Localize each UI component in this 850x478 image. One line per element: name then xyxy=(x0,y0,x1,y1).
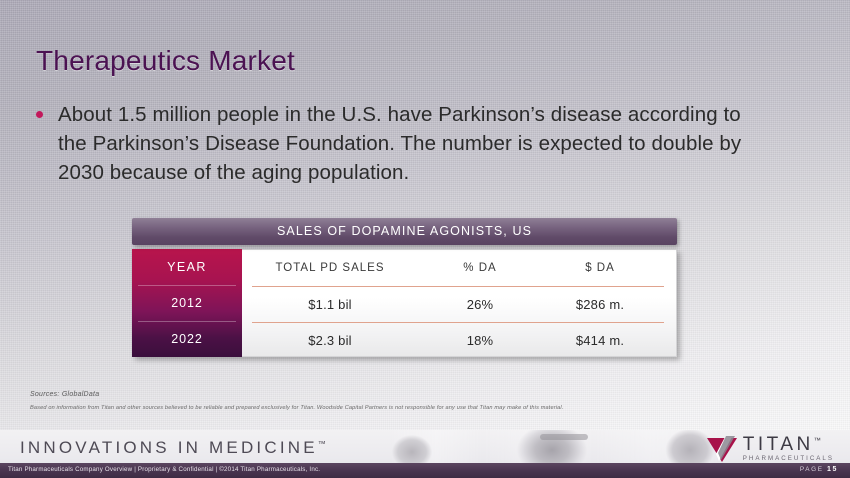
titan-subtitle: PHARMACEUTICALS xyxy=(743,456,836,462)
page-prefix: PAGE xyxy=(800,466,824,473)
sources-note: Sources: GlobalData xyxy=(30,391,99,398)
table-header-row: TOTAL PD SALES % DA $ DA xyxy=(240,250,676,286)
titan-wordmark: TITAN™ PHARMACEUTICALS xyxy=(743,435,836,462)
column-header-dollar-da: $ DA xyxy=(540,262,676,274)
year-column: YEAR 2012 2022 xyxy=(132,249,242,357)
bullet-text: About 1.5 million people in the U.S. hav… xyxy=(58,100,756,187)
titan-name-text: TITAN xyxy=(743,434,814,455)
titan-name: TITAN™ xyxy=(743,435,836,454)
data-columns: TOTAL PD SALES % DA $ DA $1.1 bil 26% $2… xyxy=(240,249,677,357)
row-year-2022: 2022 xyxy=(132,321,242,357)
row-year-2012: 2012 xyxy=(132,285,242,321)
bullet-dot-icon xyxy=(36,111,43,118)
cell-pct-da-2012: 26% xyxy=(420,297,540,312)
footer-photo-strip xyxy=(390,430,720,464)
page-title: Therapeutics Market xyxy=(36,45,295,77)
table-caption: SALES OF DOPAMINE AGONISTS, US xyxy=(132,218,677,245)
cell-pct-da-2022: 18% xyxy=(420,333,540,348)
footer-copyright: Titan Pharmaceuticals Company Overview |… xyxy=(8,466,320,473)
slide: Therapeutics Market About 1.5 million pe… xyxy=(0,0,850,478)
sales-table: SALES OF DOPAMINE AGONISTS, US YEAR 2012… xyxy=(132,218,677,357)
cell-dollar-da-2012: $286 m. xyxy=(540,297,676,312)
table-row: $1.1 bil 26% $286 m. xyxy=(240,286,676,322)
table-body: YEAR 2012 2022 TOTAL PD SALES % DA $ DA … xyxy=(132,249,677,357)
titan-trademark-icon: ™ xyxy=(814,438,821,445)
cell-total-pd-sales-2022: $2.3 bil xyxy=(240,333,420,348)
trademark-icon: ™ xyxy=(318,439,326,448)
column-header-total-pd-sales: TOTAL PD SALES xyxy=(240,262,420,274)
page-number: 15 xyxy=(827,466,838,473)
bullet-item: About 1.5 million people in the U.S. hav… xyxy=(36,100,756,187)
footer-strip: Titan Pharmaceuticals Company Overview |… xyxy=(0,463,850,478)
titan-logo: TITAN™ PHARMACEUTICALS xyxy=(705,434,836,464)
disclaimer-note: Based on information from Titan and othe… xyxy=(30,405,564,411)
table-row: $2.3 bil 18% $414 m. xyxy=(240,322,676,358)
cell-dollar-da-2022: $414 m. xyxy=(540,333,676,348)
column-header-pct-da: % DA xyxy=(420,262,540,274)
footer-tagline: INNOVATIONS IN MEDICINE™ xyxy=(20,438,326,458)
page-number-label: PAGE 15 xyxy=(800,466,838,473)
cell-total-pd-sales-2012: $1.1 bil xyxy=(240,297,420,312)
footer-tagline-text: INNOVATIONS IN MEDICINE xyxy=(20,438,318,457)
titan-triangle-icon xyxy=(705,435,739,463)
column-header-year: YEAR xyxy=(132,249,242,285)
